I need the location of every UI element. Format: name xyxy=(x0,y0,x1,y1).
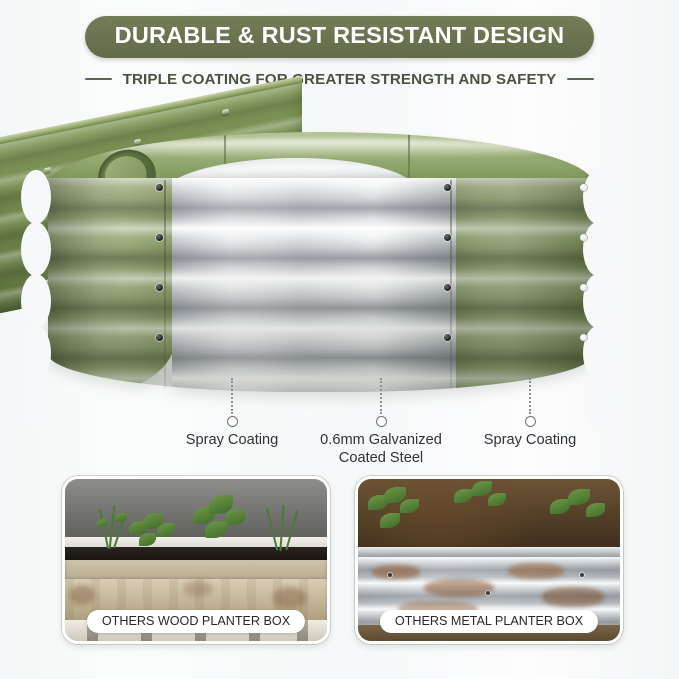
plant-tomato-left xyxy=(366,485,436,541)
page-title: DURABLE & RUST RESISTANT DESIGN xyxy=(115,24,565,48)
comparison-caption-wood: OTHERS WOOD PLANTER BOX xyxy=(87,610,305,633)
bolt-column-right xyxy=(580,184,592,384)
comparison-photo-metal: OTHERS METAL PLANTER BOX xyxy=(355,476,623,644)
product-illustration xyxy=(0,100,679,405)
plant-herb-2 xyxy=(127,509,183,557)
header: DURABLE & RUST RESISTANT DESIGN TRIPLE C… xyxy=(0,0,679,100)
rim-gloss xyxy=(81,139,561,158)
plant-basil xyxy=(189,493,249,549)
bolt-column-middle xyxy=(444,184,456,384)
callout-label-spray-coating-right: Spray Coating xyxy=(450,432,610,450)
leader-marker-3 xyxy=(525,416,536,427)
leader-line-1 xyxy=(231,378,235,414)
page-subtitle: TRIPLE COATING FOR GREATER STRENGTH AND … xyxy=(123,71,557,88)
callout-label-spray-coating-left: Spray Coating xyxy=(152,432,312,450)
photo-wood-rail xyxy=(65,560,327,581)
garden-bed-body xyxy=(40,132,600,400)
callout-group: Spray Coating 0.6mm Galvanized Coated St… xyxy=(0,378,679,468)
subtitle-row: TRIPLE COATING FOR GREATER STRENGTH AND … xyxy=(0,71,679,88)
bolt-column-left xyxy=(156,184,168,384)
plant-tomato-right xyxy=(548,487,612,543)
leader-marker-1 xyxy=(227,416,238,427)
wall-left-scallop-edge xyxy=(40,178,70,392)
plant-tomato-mid xyxy=(450,481,514,535)
comparison-group: OTHERS WOOD PLANTER BOX xyxy=(0,476,679,656)
wall-zone-galvanized-core xyxy=(172,178,460,392)
leader-line-2 xyxy=(380,378,384,414)
callout-label-galvanized-steel: 0.6mm Galvanized Coated Steel xyxy=(298,432,464,468)
bed-wall xyxy=(48,178,594,392)
leader-marker-2 xyxy=(376,416,387,427)
dash-left-icon xyxy=(85,78,112,80)
leader-line-3 xyxy=(529,378,533,414)
dash-right-icon xyxy=(567,78,594,80)
comparison-photo-wood: OTHERS WOOD PLANTER BOX xyxy=(62,476,330,644)
infographic-page: DURABLE & RUST RESISTANT DESIGN TRIPLE C… xyxy=(0,0,679,679)
title-pill: DURABLE & RUST RESISTANT DESIGN xyxy=(85,16,595,58)
comparison-caption-metal: OTHERS METAL PLANTER BOX xyxy=(380,610,598,633)
plant-rosemary xyxy=(261,505,307,553)
